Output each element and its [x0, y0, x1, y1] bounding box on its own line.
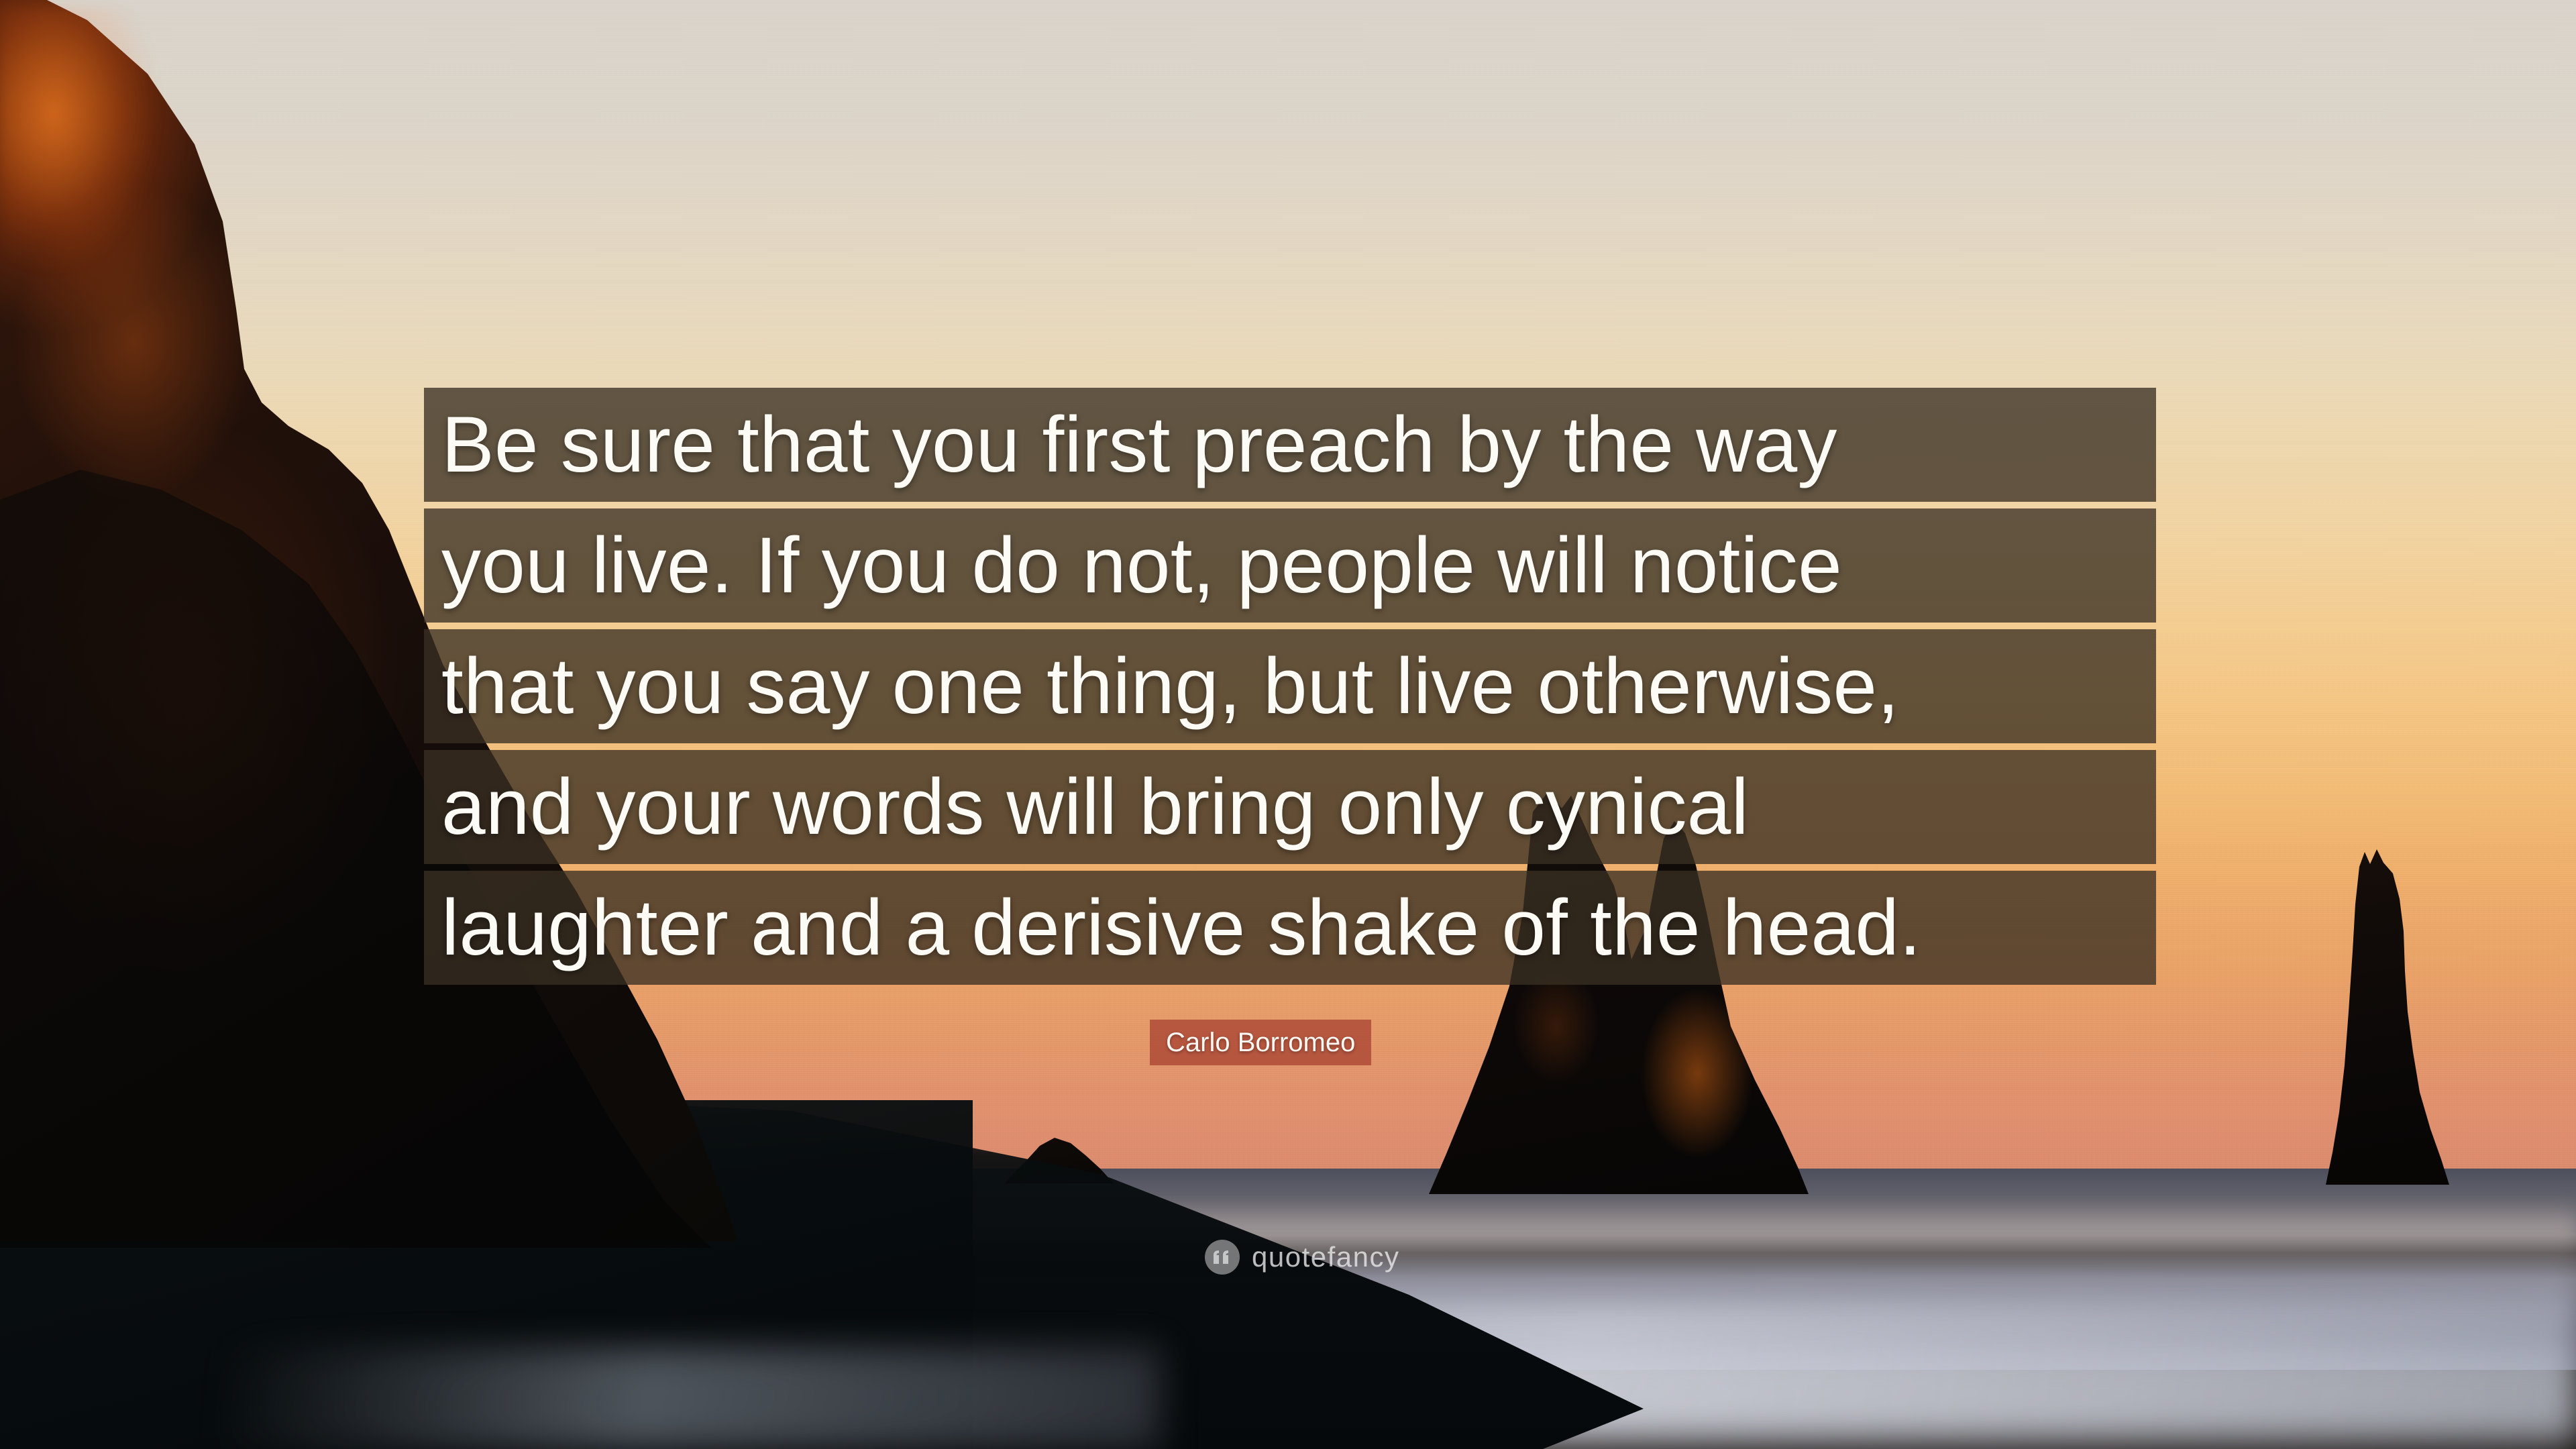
wet-sand-reflection	[221, 1348, 1161, 1449]
quote-line: you live. If you do not, people will not…	[424, 508, 2156, 623]
quote-line: laughter and a derisive shake of the hea…	[424, 871, 2156, 985]
wallpaper-canvas: Be sure that you first preach by the way…	[0, 0, 2576, 1449]
author-badge: Carlo Borromeo	[1150, 1020, 1371, 1065]
quote-line: and your words will bring only cynical	[424, 750, 2156, 864]
watermark: quotefancy	[1205, 1240, 1400, 1275]
watermark-brand: quotefancy	[1252, 1240, 1400, 1275]
cliff-sunlit-glow	[0, 7, 282, 382]
quote-line: Be sure that you first preach by the way	[424, 388, 2156, 502]
quote-line: that you say one thing, but live otherwi…	[424, 629, 2156, 743]
quote-block: Be sure that you first preach by the way…	[424, 388, 2156, 985]
quote-mark-icon	[1205, 1240, 1240, 1275]
